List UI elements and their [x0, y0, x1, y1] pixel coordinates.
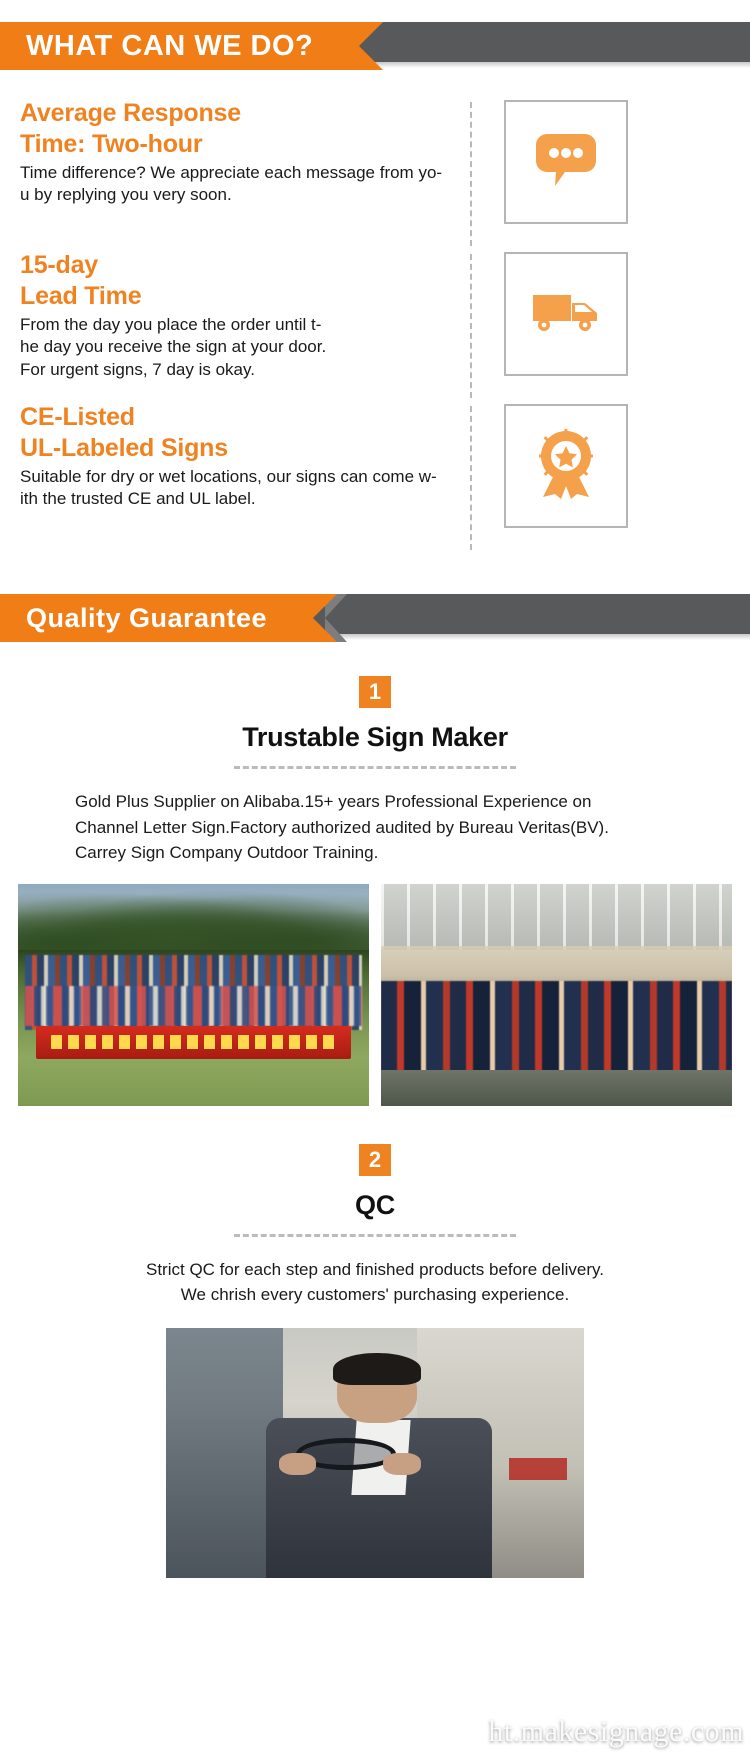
crowd-row-front	[25, 986, 362, 1026]
feature-body: Suitable for dry or wet locations, our s…	[20, 466, 462, 511]
inspector-hair	[333, 1353, 421, 1386]
feature-body-line-2: he day you receive the sign at your door…	[20, 336, 462, 358]
feature-title: 15-day Lead Time	[20, 250, 462, 311]
banner-orange-tab: Quality Guarantee	[0, 594, 313, 642]
feature-title: Average Response Time: Two-hour	[20, 98, 462, 159]
section-number-badge: 2	[359, 1144, 391, 1176]
feature-body-line-2: u by replying you very soon.	[20, 184, 462, 206]
banner-quality-guarantee: Quality Guarantee	[0, 594, 750, 642]
banner-what-can-we-do: WHAT CAN WE DO?	[0, 22, 750, 70]
feature-dashed-divider	[470, 102, 472, 246]
group-outdoor-training-photo	[18, 884, 369, 1106]
warehouse-staff-training-photo	[381, 884, 732, 1106]
section-paragraph-line-2: We chrish every customers' purchasing ex…	[70, 1282, 680, 1308]
staff-group	[381, 981, 732, 1074]
features-list: Average Response Time: Two-hour Time dif…	[0, 70, 750, 554]
section-paragraph-line-2: Channel Letter Sign.Factory authorized a…	[75, 815, 680, 841]
delivery-truck-icon	[531, 289, 601, 340]
section-paragraph-line-3: Carrey Sign Company Outdoor Training.	[75, 840, 680, 866]
section-heading: Trustable Sign Maker	[0, 722, 750, 753]
section-qc: 2 QC Strict QC for each step and finishe…	[0, 1144, 750, 1578]
feature-icon-box	[504, 252, 628, 376]
feature-dashed-divider	[470, 406, 472, 550]
feature-body: Time difference? We appreciate each mess…	[20, 162, 462, 207]
chat-bubble-icon	[535, 132, 597, 193]
award-ribbon-icon	[535, 429, 597, 504]
section-paragraph-line-1: Gold Plus Supplier on Alibaba.15+ years …	[75, 789, 680, 815]
feature-body: From the day you place the order until t…	[20, 314, 462, 381]
feature-title: CE-Listed UL-Labeled Signs	[20, 402, 462, 463]
section-dashed-rule	[234, 766, 516, 769]
section-paragraph-line-1: Strict QC for each step and finished pro…	[70, 1257, 680, 1283]
feature-body-line-3: For urgent signs, 7 day is okay.	[20, 359, 462, 381]
feature-title-line-2: Time: Two-hour	[20, 129, 462, 160]
section-paragraph: Gold Plus Supplier on Alibaba.15+ years …	[0, 789, 750, 866]
section-trustable-sign-maker: 1 Trustable Sign Maker Gold Plus Supplie…	[0, 676, 750, 1106]
section-photo-row	[0, 884, 750, 1106]
inspector-right-hand	[383, 1453, 421, 1476]
feature-icon-box	[504, 100, 628, 224]
warehouse-floor	[381, 1070, 732, 1106]
photo-red-element	[509, 1458, 568, 1481]
site-watermark: ht.makesignage.com	[488, 1715, 744, 1749]
feature-dashed-divider	[470, 254, 472, 398]
section-number-badge: 1	[359, 676, 391, 708]
feature-text-block: Average Response Time: Two-hour Time dif…	[0, 98, 470, 207]
feature-body-line-1: Suitable for dry or wet locations, our s…	[20, 466, 462, 488]
feature-item-ce-ul-listed: CE-Listed UL-Labeled Signs Suitable for …	[0, 402, 750, 554]
banner-title-text: Quality Guarantee	[26, 603, 267, 634]
feature-title-line-1: CE-Listed	[20, 402, 462, 433]
section-dashed-rule	[234, 1234, 516, 1237]
banner-orange-tab: WHAT CAN WE DO?	[0, 22, 359, 70]
inspector-left-hand	[279, 1453, 317, 1476]
feature-body-line-2: ith the trusted CE and UL label.	[20, 488, 462, 510]
feature-title-line-2: UL-Labeled Signs	[20, 433, 462, 464]
banner-title-text: WHAT CAN WE DO?	[26, 30, 313, 63]
qc-inspection-photo	[166, 1328, 584, 1578]
feature-body-line-1: Time difference? We appreciate each mess…	[20, 162, 462, 184]
warehouse-roof	[381, 884, 732, 951]
feature-body-line-1: From the day you place the order until t…	[20, 314, 462, 336]
feature-icon-box	[504, 404, 628, 528]
red-banner-prop	[36, 1026, 352, 1059]
feature-title-line-1: 15-day	[20, 250, 462, 281]
tree-background	[18, 884, 369, 951]
feature-title-line-1: Average Response	[20, 98, 462, 129]
feature-text-block: 15-day Lead Time From the day you place …	[0, 250, 470, 381]
feature-title-line-2: Lead Time	[20, 281, 462, 312]
feature-text-block: CE-Listed UL-Labeled Signs Suitable for …	[0, 402, 470, 511]
feature-item-response-time: Average Response Time: Two-hour Time dif…	[0, 98, 750, 250]
feature-item-lead-time: 15-day Lead Time From the day you place …	[0, 250, 750, 402]
section-heading: QC	[0, 1190, 750, 1221]
section-paragraph: Strict QC for each step and finished pro…	[0, 1257, 750, 1308]
